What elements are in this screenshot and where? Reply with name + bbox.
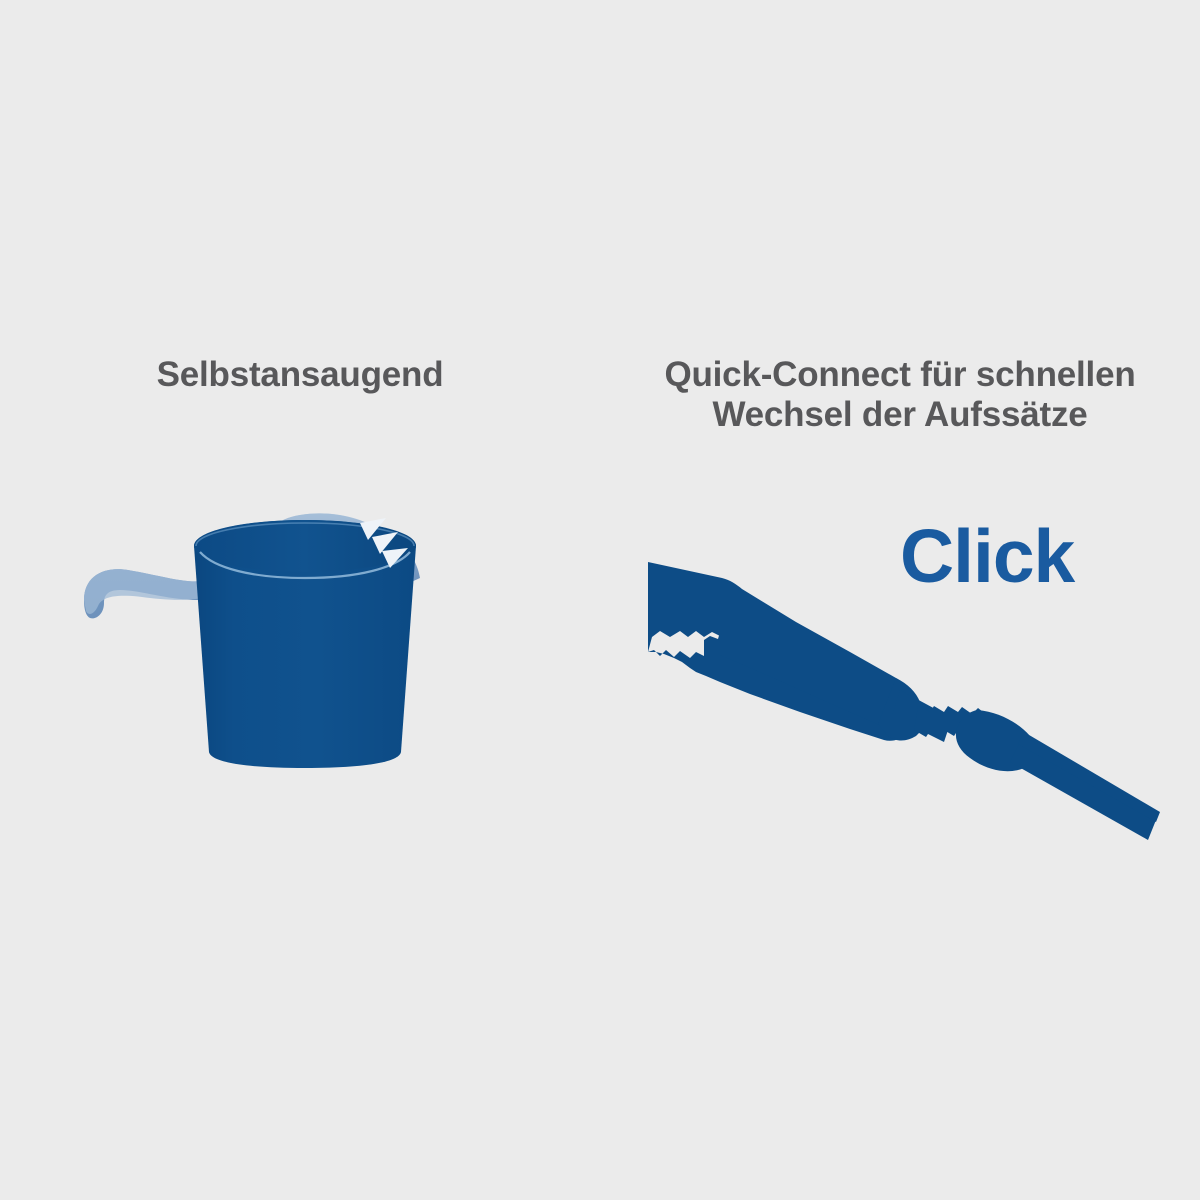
lance-silhouette — [648, 562, 952, 742]
infographic-canvas: Selbstansaugend — [0, 0, 1200, 1200]
extension-tube — [1010, 732, 1160, 840]
panel-self-priming: Selbstansaugend — [0, 0, 600, 1200]
illustration-quick-connect-lance — [600, 0, 1200, 1200]
panel-quick-connect: Quick-Connect für schnellen Wechsel der … — [600, 0, 1200, 1200]
water-bucket — [194, 520, 416, 768]
illustration-bucket-with-suction-hose — [0, 0, 600, 1200]
